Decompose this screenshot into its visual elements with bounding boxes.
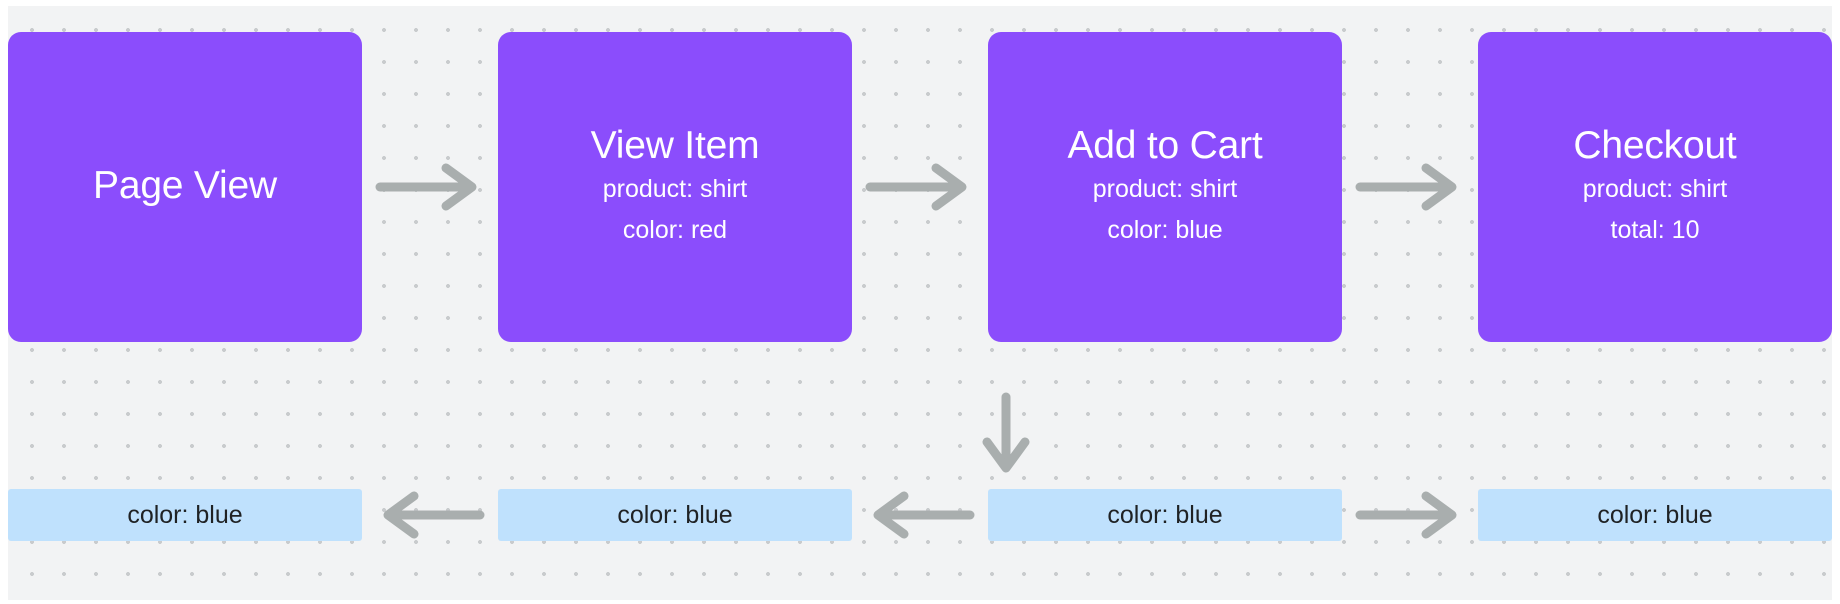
event-node-title: Checkout [1573, 124, 1736, 168]
arrow-add-to-cart-to-property [976, 392, 1036, 476]
event-node-page-view[interactable]: Page View [8, 32, 362, 342]
event-node-checkout[interactable]: Checkout product: shirt total: 10 [1478, 32, 1832, 342]
event-node-view-item[interactable]: View Item product: shirt color: red [498, 32, 852, 342]
flow-diagram-canvas: Page View View Item product: shirt color… [0, 0, 1840, 604]
arrow-slot [1342, 32, 1478, 342]
event-node-property: product: shirt [1093, 169, 1238, 210]
arrow-slot [1342, 488, 1478, 542]
event-node-row: Page View View Item product: shirt color… [8, 32, 1832, 342]
arrow-add-to-cart-to-checkout-icon [1354, 160, 1466, 214]
event-node-title: View Item [591, 124, 760, 168]
event-node-property: color: red [623, 210, 727, 251]
property-tag[interactable]: color: blue [8, 489, 362, 541]
property-tag[interactable]: color: blue [498, 489, 852, 541]
arrow-property-3-to-property-2-icon [864, 488, 976, 542]
event-node-property: product: shirt [603, 169, 748, 210]
arrow-slot [852, 488, 988, 542]
event-node-property: product: shirt [1583, 169, 1728, 210]
arrow-property-2-to-property-1-icon [374, 488, 486, 542]
property-tag[interactable]: color: blue [1478, 489, 1832, 541]
arrow-down-icon [976, 392, 1036, 476]
arrow-property-3-to-property-4-icon [1354, 488, 1466, 542]
event-node-title: Page View [93, 164, 277, 208]
event-node-properties: product: shirt total: 10 [1583, 169, 1728, 250]
arrow-slot [362, 488, 498, 542]
event-node-add-to-cart[interactable]: Add to Cart product: shirt color: blue [988, 32, 1342, 342]
property-tag[interactable]: color: blue [988, 489, 1342, 541]
arrow-page-view-to-view-item-icon [374, 160, 486, 214]
property-tag-row: color: blue color: blue color: blue [8, 486, 1832, 544]
event-node-properties: product: shirt color: blue [1093, 169, 1238, 250]
event-node-title: Add to Cart [1067, 124, 1262, 168]
event-node-property: color: blue [1107, 210, 1222, 251]
arrow-slot [362, 32, 498, 342]
event-node-property: total: 10 [1611, 210, 1700, 251]
event-node-properties: product: shirt color: red [603, 169, 748, 250]
arrow-view-item-to-add-to-cart-icon [864, 160, 976, 214]
arrow-slot [852, 32, 988, 342]
